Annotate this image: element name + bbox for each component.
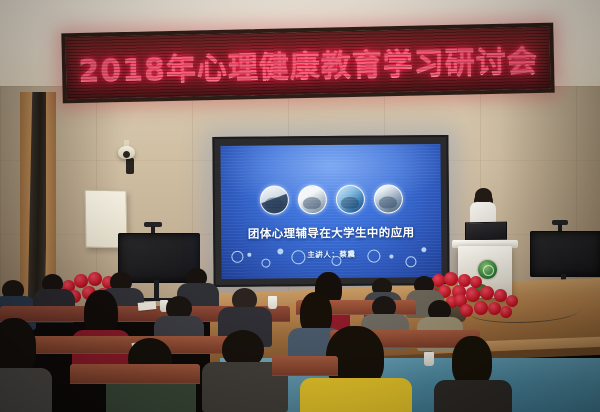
attendee-body xyxy=(434,380,512,412)
bubble-10 xyxy=(389,254,393,258)
bubble-4 xyxy=(277,248,283,254)
bubble-11 xyxy=(405,256,416,267)
wall-speaker xyxy=(126,158,134,174)
projection-screen: 团体心理辅导在大学生中的应用 主讲人：蔡震 xyxy=(212,135,449,287)
tv-screen-right xyxy=(530,231,600,277)
red-flower-arrangement-podium xyxy=(452,284,520,322)
bubble-3 xyxy=(261,259,270,268)
flower-l3 xyxy=(88,272,102,286)
bubble-9 xyxy=(367,250,380,263)
photo-badge-2-icon xyxy=(297,185,326,214)
bubble-6 xyxy=(315,254,319,258)
bubble-8 xyxy=(349,250,354,255)
flower-p6 xyxy=(460,304,473,317)
attendee-body xyxy=(0,368,52,412)
presenter-hair xyxy=(475,188,492,203)
bubble-1 xyxy=(231,251,243,263)
slide-title: 团体心理辅导在大学生中的应用 xyxy=(221,224,441,242)
photo-badge-1-icon xyxy=(259,185,288,214)
auditorium-photo: 2018年心理健康教育学习研讨会 团体心理辅导在大学生中的应用 xyxy=(0,0,600,412)
led-banner: 2018年心理健康教育学习研讨会 xyxy=(61,23,554,104)
bubble-2 xyxy=(247,253,251,257)
flower-p9 xyxy=(500,306,512,318)
audience-row-front-right xyxy=(272,356,338,376)
dome-security-camera-icon xyxy=(118,146,135,159)
flower-p8 xyxy=(488,302,501,315)
flower-p5 xyxy=(506,295,518,307)
flower-p7 xyxy=(474,301,488,315)
photo-badge-4-icon xyxy=(373,184,402,213)
bubble-12 xyxy=(421,247,426,252)
projector-glow xyxy=(220,144,441,219)
paper-cup-1 xyxy=(268,296,277,309)
presentation-slide: 团体心理辅导在大学生中的应用 主讲人：蔡震 xyxy=(220,144,441,279)
paper-cup-3 xyxy=(424,352,434,366)
photo-badge-3-icon xyxy=(335,185,364,214)
tv-stand-pole-left xyxy=(154,280,159,300)
slide-presenter: 主讲人：蔡震 xyxy=(221,248,441,261)
attendee-body xyxy=(300,378,412,412)
slide-photo-badges xyxy=(221,184,441,215)
audience-row-front xyxy=(70,364,200,384)
flower-p3 xyxy=(480,286,494,300)
flower-p2 xyxy=(466,288,480,302)
bubble-7 xyxy=(331,256,341,266)
led-banner-text: 2018年心理健康教育学习研讨会 xyxy=(66,36,551,91)
bubble-5 xyxy=(291,250,305,264)
